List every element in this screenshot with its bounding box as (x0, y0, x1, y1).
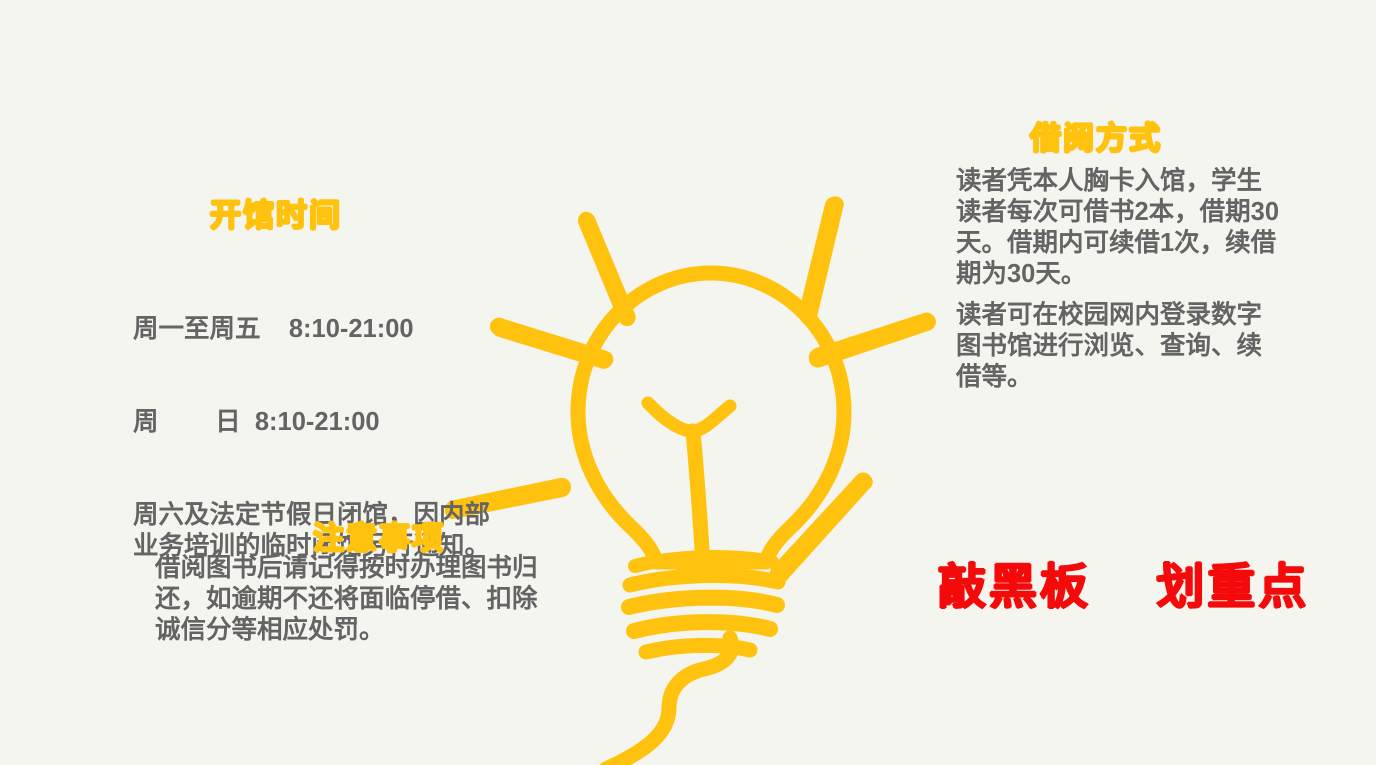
notice-body: 借阅图书后请记得按时办理图书归还，如逾期不还将面临停借、扣除诚信分等相应处罚。 (155, 553, 555, 646)
bulb-filament-stem (693, 431, 702, 550)
ray-upper-right (799, 196, 844, 324)
emphasis-text: 敲黑板 划重点 (938, 547, 1309, 617)
bulb-glass-outline (578, 273, 844, 562)
bulb-screw-base (629, 557, 778, 652)
notice-heading: 注意事项 (313, 513, 445, 558)
borrowing-paragraph-2: 读者可在校园网内登录数字图书馆进行浏览、查询、续借等。 (956, 300, 1286, 393)
ray-upper-left (578, 212, 636, 326)
ray-right (809, 312, 936, 367)
slide-canvas: 开馆时间 周一至周五 8:10-21:00 周 日 8:10-21:00 周六及… (0, 0, 1376, 765)
borrowing-paragraph-1: 读者凭本人胸卡入馆，学生读者每次可借书2本，借期30天。借期内可续借1次，续借期… (956, 166, 1286, 290)
opening-hours-row-weekday: 周一至周五 8:10-21:00 (133, 314, 523, 345)
bulb-filament (648, 403, 730, 431)
borrowing-method-heading: 借阅方式 (1030, 113, 1162, 158)
bulb-wire (606, 638, 732, 765)
ray-lower-right (770, 473, 873, 583)
opening-hours-row-sunday: 周 日 8:10-21:00 (133, 407, 523, 438)
opening-hours-heading: 开馆时间 (210, 190, 342, 235)
